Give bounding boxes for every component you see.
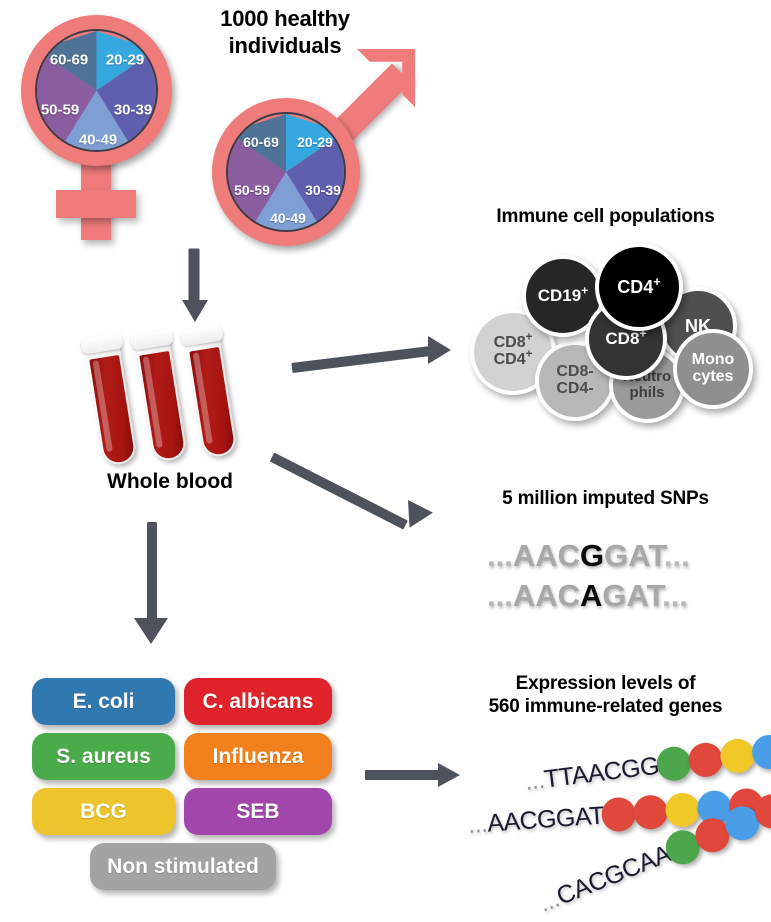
expression-sequence-bases: AACGGAT bbox=[486, 801, 605, 837]
pie-label-40-49: 40-49 bbox=[270, 210, 306, 226]
expression-title: Expression levels of 560 immune-related … bbox=[440, 672, 771, 718]
stimulus-c-albicans[interactable]: C. albicans bbox=[184, 678, 332, 725]
female-stem-cross bbox=[56, 190, 136, 218]
pie-label-60-69: 60-69 bbox=[243, 134, 279, 150]
stimulus-label: SEB bbox=[236, 800, 279, 824]
whole-blood-label: Whole blood bbox=[70, 470, 270, 494]
pie-label-60-69: 60-69 bbox=[50, 52, 88, 69]
expression-sequence-lead: ... bbox=[467, 809, 488, 838]
snp-suffix: ... bbox=[662, 578, 688, 613]
pie-label-40-49: 40-49 bbox=[79, 132, 117, 149]
expression-dot bbox=[750, 733, 771, 771]
expression-sequence: ...AACGGAT bbox=[467, 801, 605, 839]
pie-label-30-39: 30-39 bbox=[305, 182, 341, 198]
stimulus-s-aureus[interactable]: S. aureus bbox=[32, 733, 175, 780]
blood-tube bbox=[134, 331, 188, 463]
pie-label-20-29: 20-29 bbox=[297, 134, 333, 150]
stimulus-label: C. albicans bbox=[203, 690, 314, 714]
expression-sequence: ...CACGCAA bbox=[535, 839, 675, 918]
expression-sequence-bases: TTAACGG bbox=[542, 751, 660, 793]
snp-highlight-allele: A bbox=[580, 578, 602, 613]
stimulus-label: Non stimulated bbox=[107, 855, 259, 879]
stimulus-label: BCG bbox=[80, 800, 127, 824]
snp-sequence-row: ...AACGGAT... bbox=[487, 538, 690, 574]
pie-label-50-59: 50-59 bbox=[41, 102, 79, 119]
snp-prefix: ... bbox=[487, 578, 513, 613]
snp-suffix: ... bbox=[664, 538, 690, 573]
stimulus-influenza[interactable]: Influenza bbox=[184, 733, 332, 780]
expression-dot bbox=[687, 741, 725, 779]
stimulus-label: S. aureus bbox=[56, 745, 151, 769]
immune-cell-label: CD4+ bbox=[617, 278, 661, 297]
snp-highlight-allele: G bbox=[580, 538, 604, 573]
immune-title: Immune cell populations bbox=[440, 205, 771, 228]
snp-left: AAC bbox=[513, 538, 580, 573]
stimuli-panel: E. coli C. albicans S. aureus Influenza … bbox=[32, 678, 332, 908]
immune-cell-label: CD8-CD4- bbox=[556, 364, 593, 398]
expression-dot bbox=[633, 794, 669, 830]
stimulus-bcg[interactable]: BCG bbox=[32, 788, 175, 835]
snp-left: AAC bbox=[513, 578, 580, 613]
expression-title-line2: 560 immune-related genes bbox=[440, 695, 771, 718]
study-design-figure: 1000 healthy individuals 20-29 30-39 40-… bbox=[0, 0, 771, 922]
immune-cell-label: Monocytes bbox=[692, 352, 735, 386]
immune-cell-label: CD8+ bbox=[605, 330, 646, 348]
immune-cell-label: CD8+CD4+ bbox=[494, 335, 533, 369]
snp-right: GAT bbox=[602, 578, 662, 613]
snp-sequence-row: ...AACAGAT... bbox=[487, 578, 688, 614]
blood-tube bbox=[184, 327, 238, 459]
immune-cell-label: CD19+ bbox=[538, 287, 589, 305]
stimulus-e-coli[interactable]: E. coli bbox=[32, 678, 175, 725]
immune-cell-cluster: CD8+CD4+ CD19+ CD4+ NK CD8+ CD8-CD4- Neu… bbox=[455, 243, 771, 423]
snp-prefix: ... bbox=[487, 538, 513, 573]
expression-dot bbox=[718, 737, 756, 775]
snps-title: 5 million imputed SNPs bbox=[440, 487, 771, 510]
cohort-title-line1: 1000 healthy bbox=[170, 6, 400, 33]
blood-tubes bbox=[96, 330, 276, 470]
stimulus-label: Influenza bbox=[212, 745, 303, 769]
pie-label-30-39: 30-39 bbox=[114, 102, 152, 119]
immune-cell-monocytes: Monocytes bbox=[673, 329, 753, 409]
stimulus-label: E. coli bbox=[73, 690, 135, 714]
expression-sequence: ...TTAACGG bbox=[523, 751, 660, 796]
female-symbol: 20-29 30-39 40-49 50-59 60-69 bbox=[18, 12, 198, 242]
snp-right: GAT bbox=[604, 538, 664, 573]
stimulus-seb[interactable]: SEB bbox=[184, 788, 332, 835]
male-symbol: 20-29 30-39 40-49 50-59 60-69 bbox=[205, 48, 420, 248]
pie-label-50-59: 50-59 bbox=[234, 182, 270, 198]
immune-cell-cd4p: CD4+ bbox=[595, 243, 683, 331]
expression-title-line1: Expression levels of bbox=[440, 672, 771, 695]
blood-tube bbox=[84, 335, 138, 467]
expression-dot bbox=[601, 796, 637, 832]
expression-sequence-bases: CACGCAA bbox=[553, 839, 675, 910]
pie-label-20-29: 20-29 bbox=[106, 52, 144, 69]
stimulus-non-stimulated[interactable]: Non stimulated bbox=[90, 843, 276, 890]
